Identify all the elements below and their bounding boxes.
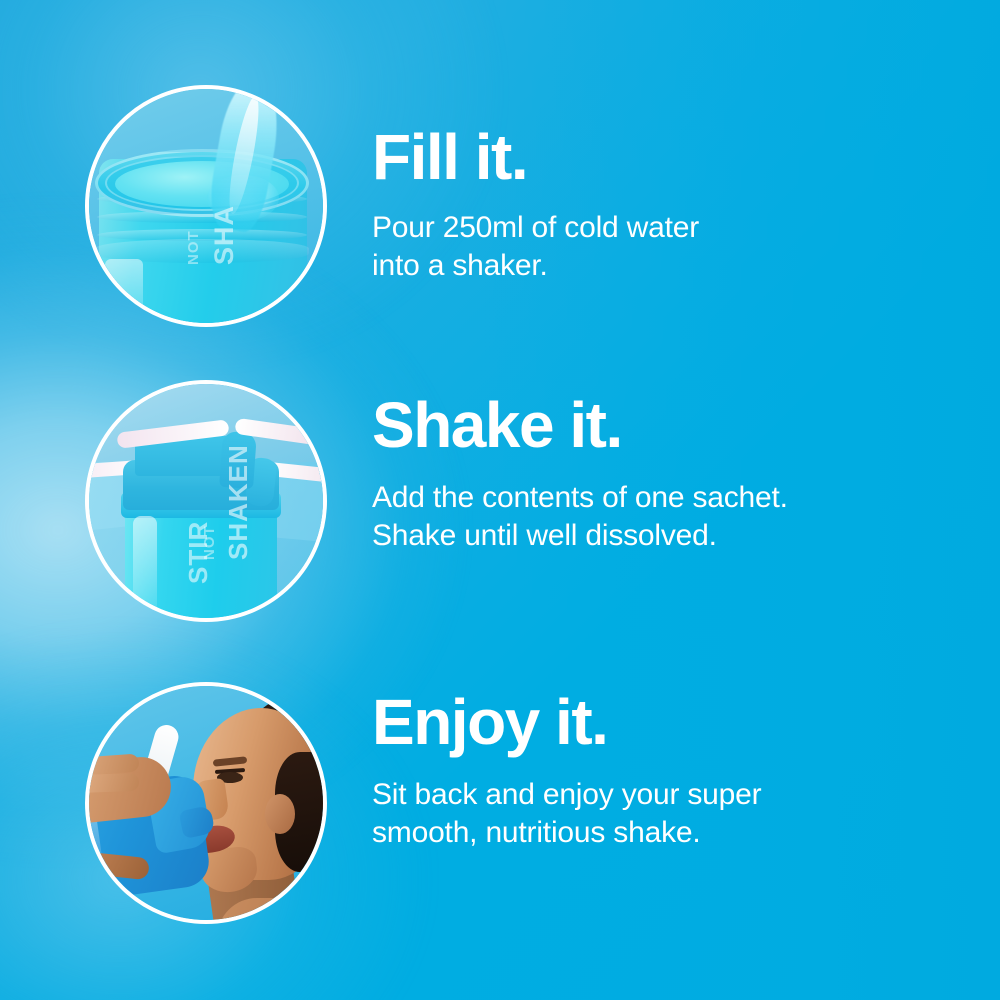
step-body-shake: Add the contents of one sachet. Shake un… [372, 479, 972, 555]
step-image-fill: SHA NOT [85, 85, 327, 327]
step-body-fill: Pour 250ml of cold water into a shaker. [372, 209, 972, 285]
step-body-line-2: smooth, nutritious shake. [372, 816, 701, 849]
bottle-label-main: SHA [209, 205, 240, 265]
step-body-line-1: Pour 250ml of cold water [372, 211, 699, 244]
bottle-label-small: NOT [185, 230, 202, 265]
step-heading-fill: Fill it. [372, 125, 972, 189]
step-row-enjoy: Enjoy it. Sit back and enjoy your super … [0, 682, 1000, 924]
step-body-line-1: Sit back and enjoy your super [372, 778, 761, 811]
step-heading-shake: Shake it. [372, 393, 972, 457]
bottle-label-main: SHAKEN [223, 444, 254, 560]
step-body-line-1: Add the contents of one sachet. [372, 481, 788, 514]
step-body-line-2: Shake until well dissolved. [372, 519, 717, 552]
step-heading-enjoy: Enjoy it. [372, 690, 972, 754]
step-body-line-2: into a shaker. [372, 249, 548, 282]
step-row-shake: SHAKEN NOT STIR Shake it. Add the conten… [0, 380, 1000, 622]
finger [89, 773, 139, 793]
bottle-highlight [133, 516, 157, 618]
bottle-label-third: STIR [183, 521, 214, 584]
step-body-enjoy: Sit back and enjoy your super smooth, nu… [372, 776, 972, 852]
step-row-fill: SHA NOT Fill it. Pour 250ml of cold wate… [0, 85, 1000, 327]
bottle-highlight [105, 259, 143, 323]
step-text-enjoy: Enjoy it. Sit back and enjoy your super … [372, 690, 972, 852]
step-image-enjoy [85, 682, 327, 924]
step-image-shake: SHAKEN NOT STIR [85, 380, 327, 622]
ear [265, 794, 295, 834]
step-text-shake: Shake it. Add the contents of one sachet… [372, 393, 972, 555]
promo-graphic: SHA NOT Fill it. Pour 250ml of cold wate… [0, 0, 1000, 1000]
step-text-fill: Fill it. Pour 250ml of cold water into a… [372, 125, 972, 285]
